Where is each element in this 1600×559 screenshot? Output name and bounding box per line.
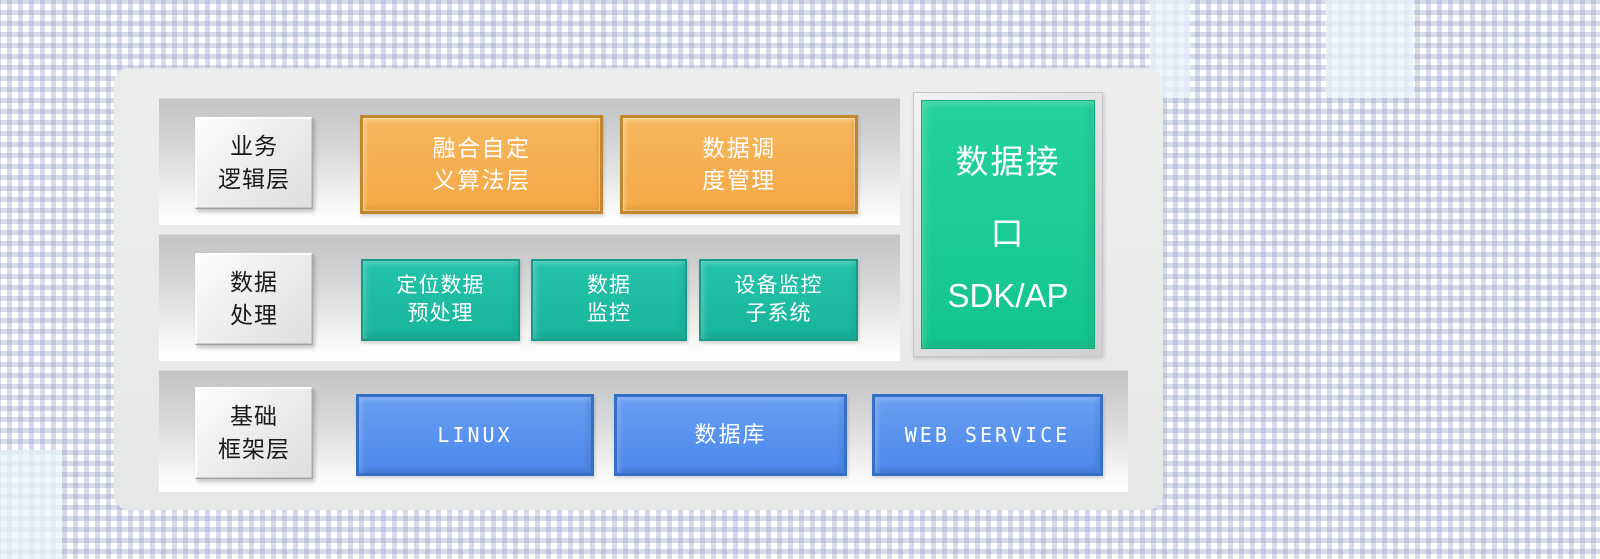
box-label-line1: 数据 xyxy=(587,272,631,300)
row-panel-base-framework: 基础 框架层 LINUX 数据库 WEB SERVICE xyxy=(159,370,1128,492)
box-label-line1: 数据库 xyxy=(694,420,766,450)
box-label-line2: 子系统 xyxy=(746,300,812,328)
row-label-line2: 框架层 xyxy=(218,433,290,466)
box-positioning-preprocess[interactable]: 定位数据 预处理 xyxy=(361,259,520,341)
box-data-monitoring[interactable]: 数据 监控 xyxy=(531,259,687,341)
box-label-line2: 度管理 xyxy=(702,165,776,196)
box-web-service[interactable]: WEB SERVICE xyxy=(872,394,1103,476)
sdk-label-line2: 口 xyxy=(991,207,1026,255)
box-label-line2: 预处理 xyxy=(408,300,474,328)
row-panel-business-logic: 业务 逻辑层 融合自定 义算法层 数据调 度管理 xyxy=(159,98,900,225)
row-label-base-framework: 基础 框架层 xyxy=(195,387,313,479)
box-label-line2: 义算法层 xyxy=(433,165,531,196)
box-label-line1: 数据调 xyxy=(702,133,776,164)
box-label-line1: WEB SERVICE xyxy=(905,422,1070,449)
data-interface-panel[interactable]: 数据接 口 SDK/AP xyxy=(921,100,1095,349)
box-label-line1: 定位数据 xyxy=(397,272,485,300)
box-linux[interactable]: LINUX xyxy=(356,394,594,476)
sdk-label-line1: 数据接 xyxy=(956,135,1061,183)
diagram-canvas: 业务 逻辑层 融合自定 义算法层 数据调 度管理 数据 处理 定位数据 预处理 xyxy=(0,0,1600,559)
background-tint-cell xyxy=(1326,0,1414,98)
box-database[interactable]: 数据库 xyxy=(614,394,847,476)
box-label-line1: 设备监控 xyxy=(735,272,823,300)
row-label-line1: 基础 xyxy=(230,400,278,433)
row-label-line1: 数据 xyxy=(230,266,278,299)
row-label-line2: 处理 xyxy=(230,299,278,332)
data-interface-frame: 数据接 口 SDK/AP xyxy=(913,92,1103,357)
box-data-scheduling[interactable]: 数据调 度管理 xyxy=(620,115,858,214)
box-label-line1: 融合自定 xyxy=(433,133,531,164)
box-label-line1: LINUX xyxy=(437,422,512,449)
sdk-label-line3: SDK/AP xyxy=(947,277,1068,315)
box-fusion-algorithm[interactable]: 融合自定 义算法层 xyxy=(360,115,603,214)
row-label-business-logic: 业务 逻辑层 xyxy=(195,117,313,209)
background-tint-cell xyxy=(0,450,62,559)
row-label-line2: 逻辑层 xyxy=(218,163,290,196)
row-label-data-processing: 数据 处理 xyxy=(195,253,313,345)
row-panel-data-processing: 数据 处理 定位数据 预处理 数据 监控 设备监控 子系统 xyxy=(159,234,900,361)
row-label-line1: 业务 xyxy=(230,130,278,163)
box-label-line2: 监控 xyxy=(587,300,631,328)
box-device-monitor-subsystem[interactable]: 设备监控 子系统 xyxy=(699,259,858,341)
